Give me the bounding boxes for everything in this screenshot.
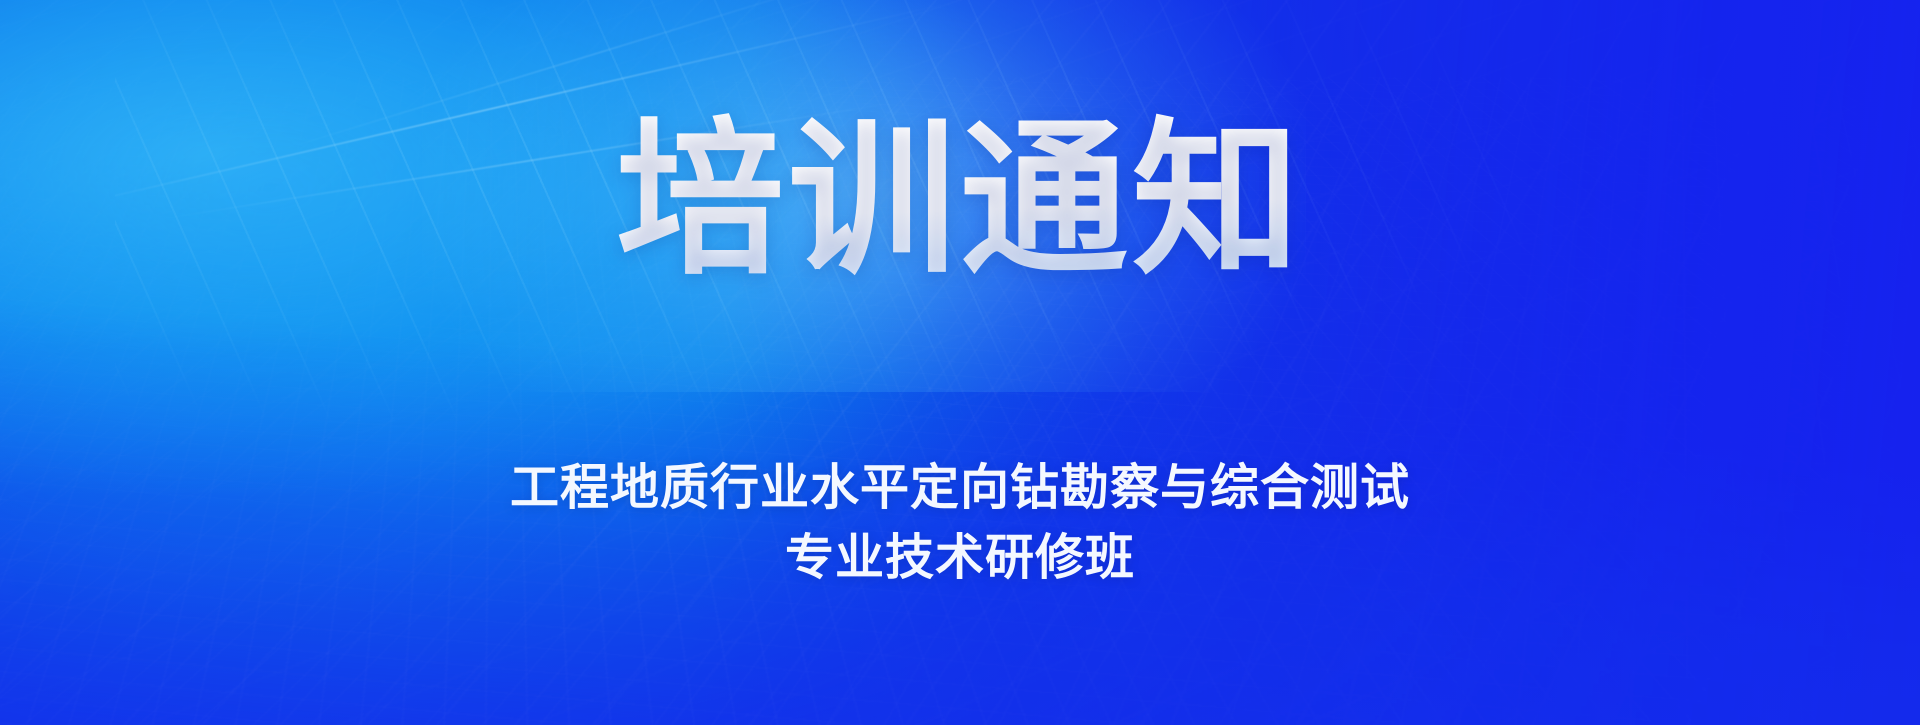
training-notice-banner: 培训通知 工程地质行业水平定向钻勘察与综合测试 专业技术研修班 bbox=[0, 0, 1920, 725]
banner-content: 培训通知 工程地质行业水平定向钻勘察与综合测试 专业技术研修班 bbox=[0, 0, 1920, 725]
subtitle-block: 工程地质行业水平定向钻勘察与综合测试 专业技术研修班 bbox=[510, 453, 1410, 592]
main-title: 培训通知 bbox=[616, 112, 1304, 288]
subtitle-line-2: 专业技术研修班 bbox=[510, 523, 1410, 593]
subtitle-line-1: 工程地质行业水平定向钻勘察与综合测试 bbox=[510, 453, 1410, 523]
